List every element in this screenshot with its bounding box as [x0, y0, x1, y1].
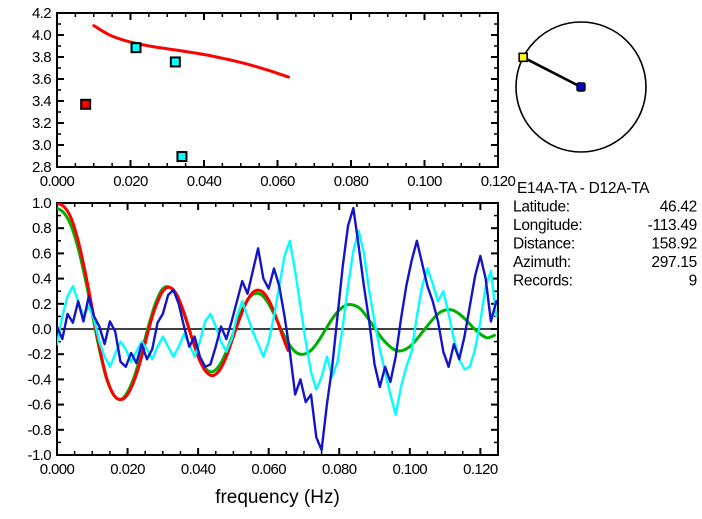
x-tick-label: 0.100 [407, 173, 442, 190]
station-longitude-label: Longitude: [513, 217, 582, 234]
y-tick-label: 3.0 [32, 137, 51, 154]
y-tick-label: -1.0 [28, 447, 52, 464]
x-tick-label: 0.060 [260, 173, 295, 190]
y-tick-label: 4.2 [32, 5, 51, 22]
station-distance-value: 158.92 [651, 236, 697, 253]
station-azimuth-square[interactable] [519, 53, 527, 61]
x-tick-label: 0.080 [334, 173, 369, 190]
x-tick-label: 0.020 [113, 173, 148, 190]
y-tick-label: 3.6 [32, 71, 51, 88]
y-tick-label: 0.4 [32, 271, 51, 288]
figure-canvas: 0.0000.0200.0400.0600.0800.1000.1202.83.… [0, 0, 702, 519]
station-records-value: 9 [689, 273, 697, 290]
y-tick-label: 0.6 [32, 245, 51, 262]
x-tick-label: 0.100 [393, 461, 428, 478]
x-tick-label: 0.040 [187, 173, 222, 190]
y-tick-label: -0.4 [28, 371, 52, 388]
y-tick-label: 0.2 [32, 296, 51, 313]
station-records-label: Records: [513, 273, 573, 290]
y-tick-label: -0.6 [28, 397, 52, 414]
station-pair-title: E14A-TA - D12A-TA [517, 180, 650, 197]
x-tick-label: 0.040 [181, 461, 216, 478]
y-tick-label: 0.8 [32, 220, 51, 237]
x-axis-title: frequency (Hz) [215, 487, 340, 508]
dispersion-point-marker[interactable] [177, 152, 186, 161]
x-tick-label: 0.120 [481, 173, 516, 190]
dispersion-point-marker[interactable] [132, 43, 141, 52]
station-latitude-value: 46.42 [660, 199, 697, 216]
x-tick-label: 0.120 [463, 461, 498, 478]
y-tick-label: 3.4 [32, 93, 51, 110]
station-latitude-label: Latitude: [513, 199, 570, 216]
y-tick-label: -0.8 [28, 422, 52, 439]
station-azimuth-value: 297.15 [651, 254, 697, 271]
x-tick-label: 0.060 [251, 461, 286, 478]
y-tick-label: 1.0 [32, 195, 51, 212]
x-tick-label: 0.020 [110, 461, 145, 478]
station-longitude-value: -113.49 [648, 217, 697, 234]
y-tick-label: 3.8 [32, 49, 51, 66]
y-tick-label: 0.0 [32, 321, 51, 338]
dispersion-point-marker[interactable] [81, 100, 90, 109]
station-center-dot[interactable] [577, 83, 585, 91]
y-tick-label: 3.2 [32, 115, 51, 132]
y-tick-label: 4.0 [32, 27, 51, 44]
x-tick-label: 0.080 [322, 461, 357, 478]
plot-page: 0.0000.0200.0400.0600.0800.1000.1202.83.… [0, 0, 702, 519]
station-distance-label: Distance: [513, 236, 575, 253]
station-azimuth-label: Azimuth: [513, 254, 571, 271]
dispersion-point-marker[interactable] [171, 57, 180, 66]
y-tick-label: -0.2 [28, 346, 52, 363]
y-tick-label: 2.8 [32, 159, 51, 176]
